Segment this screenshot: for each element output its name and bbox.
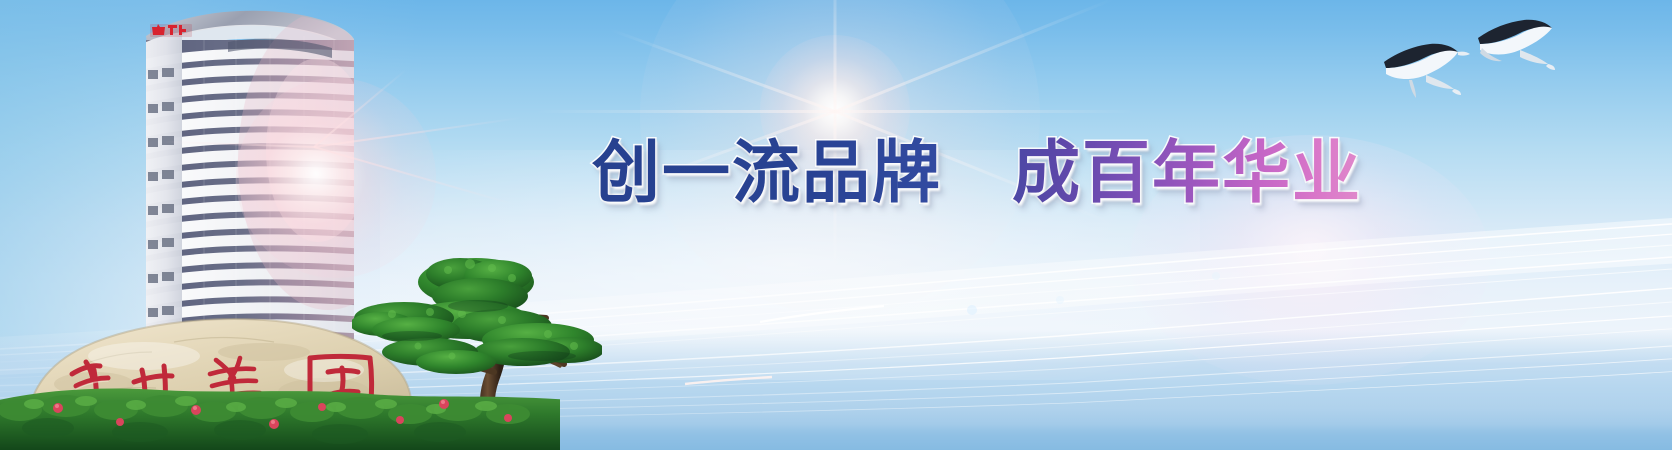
seagull-icon (1478, 20, 1555, 70)
seagull-group (1370, 4, 1555, 104)
hero-banner: 创一流品牌 成百年华业 创一流品牌 成百年华业 创一流品牌 成百年华业 (0, 0, 1672, 450)
seagull-icon (1384, 44, 1470, 98)
tower-sign (150, 24, 192, 37)
hedge-icon (0, 380, 560, 450)
slogan: 创一流品牌 成百年华业 创一流品牌 成百年华业 创一流品牌 成百年华业 (592, 131, 1362, 217)
slogan-text: 创一流品牌 成百年华业 (592, 131, 1362, 217)
